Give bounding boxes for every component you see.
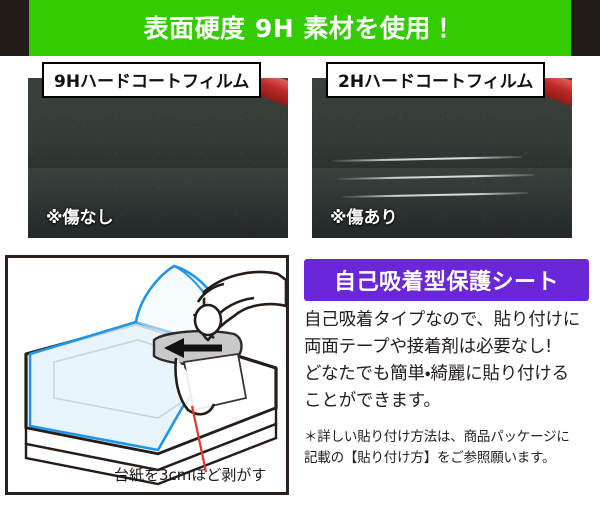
header-banner: 表面硬度 9H 素材を使用！ bbox=[0, 0, 600, 56]
info-body-line: どなたでも簡単・綺麗に貼り付ける bbox=[304, 361, 594, 388]
info-body-line: ことができます。 bbox=[304, 388, 594, 415]
comparison-card-9h: ※傷なし 9Hハードコートフィルム bbox=[28, 78, 288, 238]
header-right-edge bbox=[571, 0, 600, 56]
screen-reflection bbox=[28, 168, 288, 238]
self-adhesive-info-panel: 自己吸着型保護シート 自己吸着タイプなので、貼り付けに 両面テープや接着剤は必要… bbox=[296, 255, 595, 495]
photo-caption-no-scratch: ※傷なし bbox=[46, 203, 114, 228]
screen-reflection bbox=[312, 168, 572, 238]
info-body-line: 自己吸着タイプなので、貼り付けに bbox=[304, 307, 594, 334]
info-note-text: ＊詳しい貼り付け方法は、商品パッケージに 記載の【貼り付け方】をご参照願います。 bbox=[304, 427, 596, 469]
info-note-line: 記載の【貼り付け方】をご参照願います。 bbox=[304, 448, 596, 469]
header-green-band: 表面硬度 9H 素材を使用！ bbox=[29, 0, 571, 56]
scratch-line bbox=[342, 192, 528, 198]
info-note-line: ＊詳しい貼り付け方法は、商品パッケージに bbox=[304, 427, 596, 448]
info-body-text: 自己吸着タイプなので、貼り付けに 両面テープや接着剤は必要なし! どなたでも簡単… bbox=[304, 307, 594, 415]
photo-caption-has-scratch: ※傷あり bbox=[330, 203, 398, 228]
comparison-photo-row: ※傷なし 9Hハードコートフィルム ※傷あり 2Hハードコートフィルム bbox=[0, 56, 600, 244]
photo-2h-hardcoat: ※傷あり bbox=[312, 78, 572, 238]
info-body-line: 両面テープや接着剤は必要なし! bbox=[304, 334, 594, 361]
scratch-line bbox=[332, 156, 522, 162]
header-left-edge bbox=[0, 0, 29, 56]
peel-backing-diagram bbox=[8, 258, 286, 492]
hand-illustration bbox=[194, 272, 286, 340]
info-banner-title: 自己吸着型保護シート bbox=[334, 264, 559, 296]
page-title: 表面硬度 9H 素材を使用！ bbox=[144, 16, 457, 41]
illustration-caption: 台紙を3cmほど剥がす bbox=[114, 464, 266, 485]
photo-9h-hardcoat: ※傷なし bbox=[28, 78, 288, 238]
photo-label-9h: 9Hハードコートフィルム bbox=[42, 62, 261, 98]
photo-label-2h: 2Hハードコートフィルム bbox=[326, 62, 545, 98]
scratch-line bbox=[338, 174, 534, 180]
info-banner: 自己吸着型保護シート bbox=[304, 259, 589, 301]
comparison-card-2h: ※傷あり 2Hハードコートフィルム bbox=[312, 78, 572, 238]
application-illustration-panel: 台紙を3cmほど剥がす bbox=[5, 255, 289, 495]
